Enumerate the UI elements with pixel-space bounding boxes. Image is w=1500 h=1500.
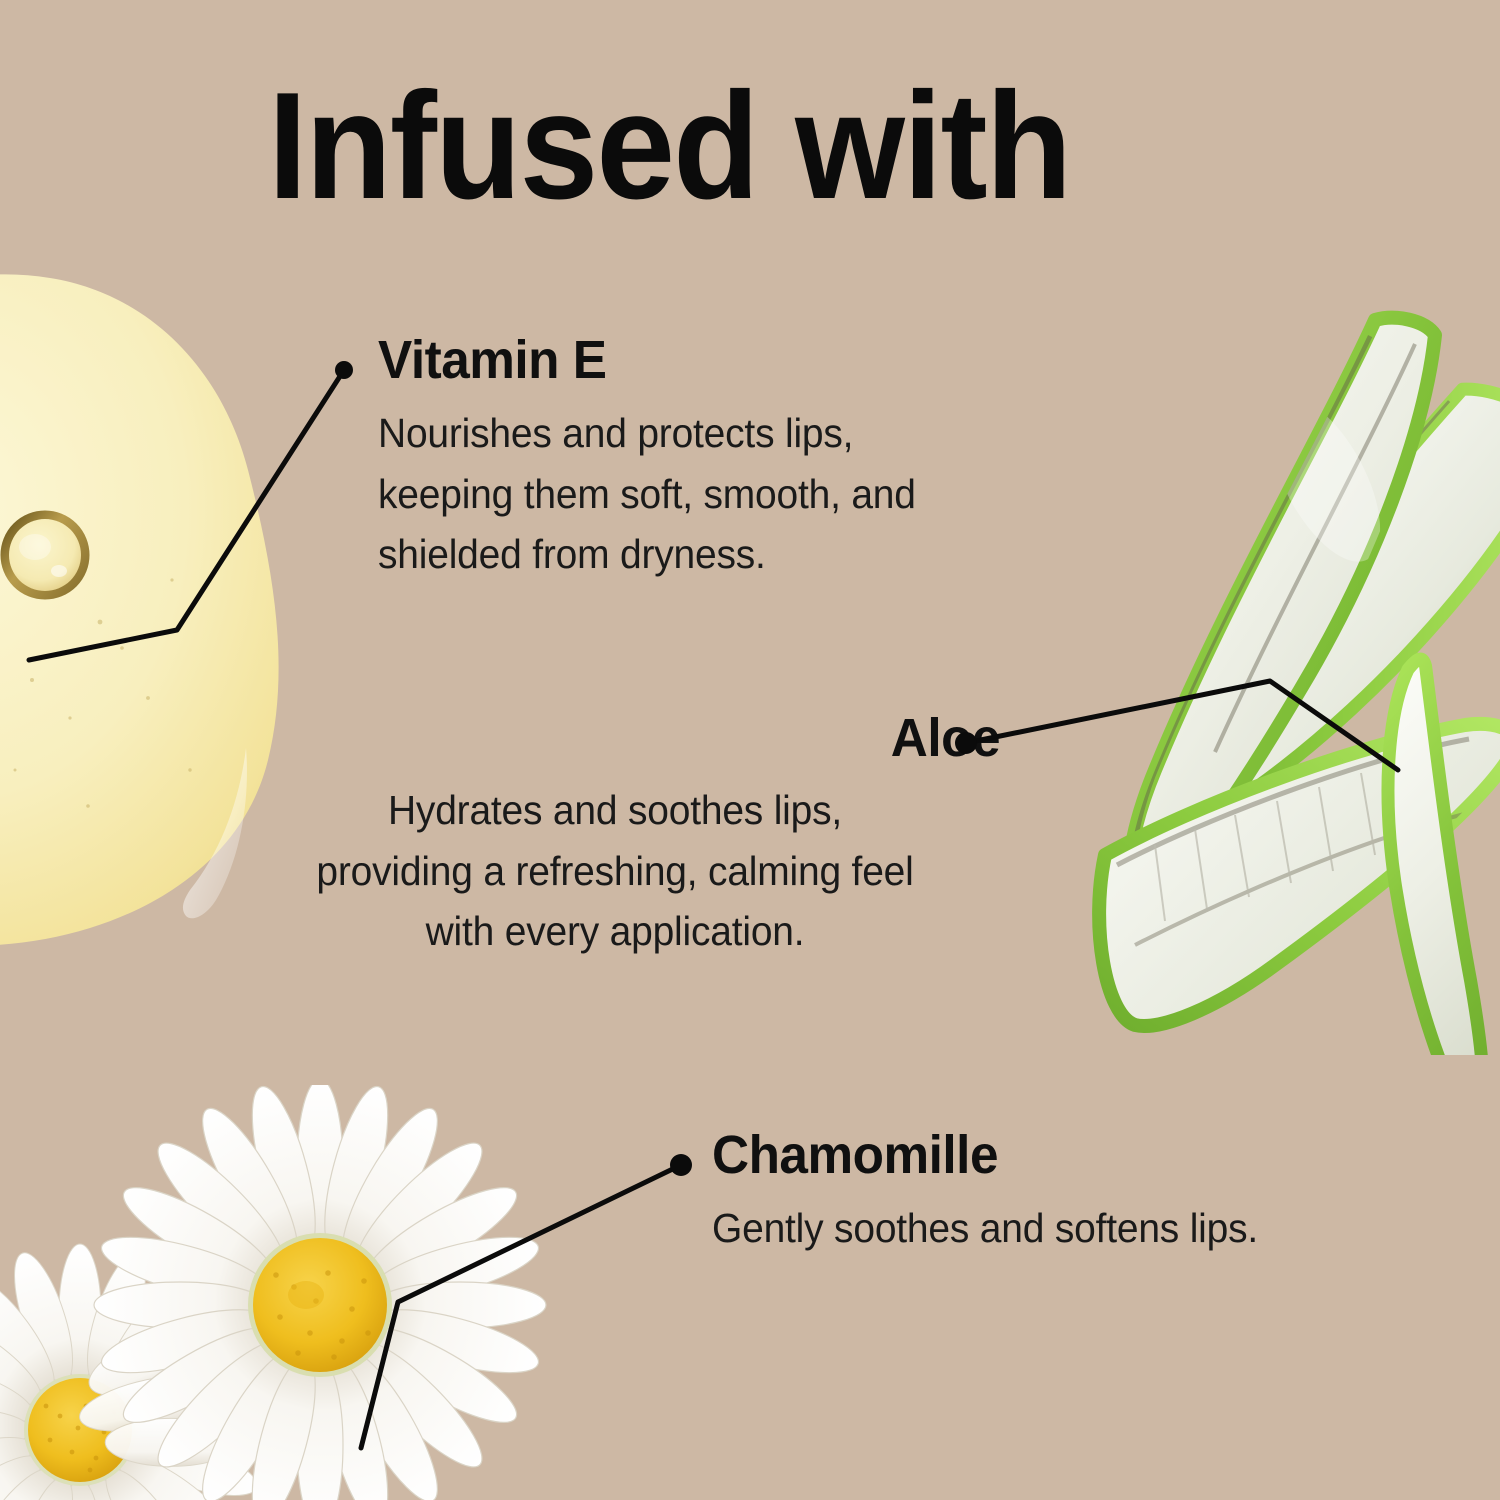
ingredient-description-chamomille: Gently soothes and softens lips. <box>712 1198 1258 1259</box>
chamomile-daisies <box>0 1085 680 1500</box>
description-line: keeping them soft, smooth, and <box>378 464 916 525</box>
ingredient-title-vitamin-e: Vitamin E <box>378 333 607 387</box>
description-line: shielded from dryness. <box>378 524 916 585</box>
ingredient-description-vitamin-e: Nourishes and protects lips, keeping the… <box>378 403 916 585</box>
description-line: providing a refreshing, calming feel <box>273 841 957 902</box>
description-line: Hydrates and soothes lips, <box>273 780 957 841</box>
aloe-vera-slices <box>1055 295 1500 1055</box>
description-line: with every application. <box>273 901 957 962</box>
ingredient-title-chamomille: Chamomille <box>712 1128 998 1182</box>
infographic-canvas: Infused with Vitamin E Nourishes and pro… <box>0 0 1500 1500</box>
callout-dot-vitamin-e <box>335 361 353 379</box>
ingredient-description-aloe: Hydrates and soothes lips, providing a r… <box>273 780 957 962</box>
description-line: Gently soothes and softens lips. <box>712 1198 1258 1259</box>
ingredient-title-aloe: Aloe <box>891 711 1000 765</box>
page-title: Infused with <box>268 70 1070 222</box>
description-line: Nourishes and protects lips, <box>378 403 916 464</box>
